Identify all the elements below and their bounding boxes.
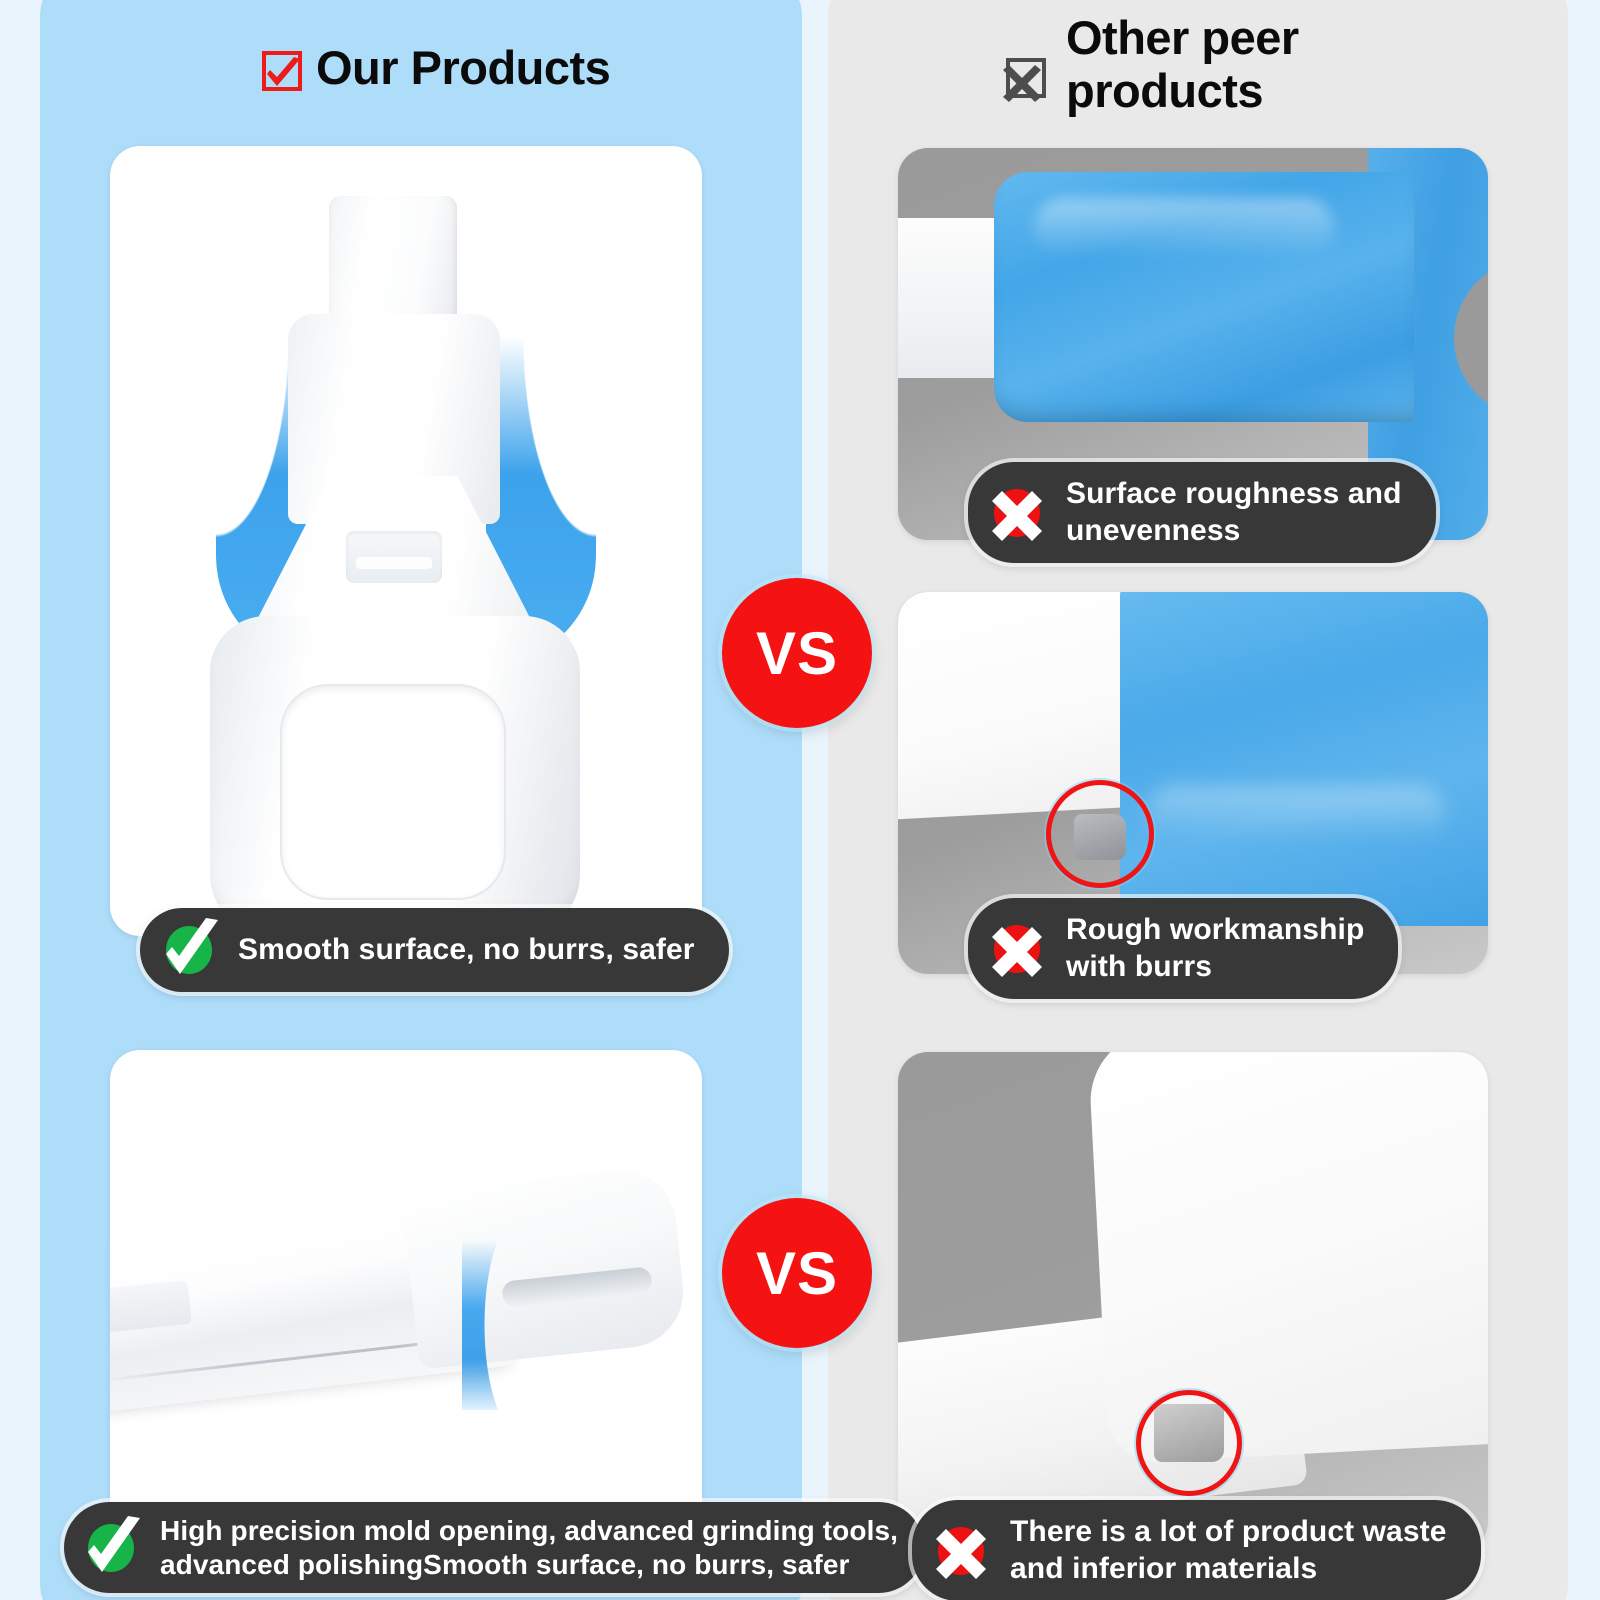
nail-clipper-closeup-illustration [110,1050,702,1550]
caption-text: High precision mold opening, advanced gr… [160,1514,898,1581]
green-check-circle-icon [162,922,218,978]
our-products-title: Our Products [316,42,610,95]
our-product-full-caption: Smooth surface, no burrs, safer [140,908,729,992]
caption-text: There is a lot of product waste and infe… [1010,1514,1447,1587]
peer-burr-closeup-caption: Rough workmanship with burrs [968,898,1398,999]
peer-products-title: Other peer products [1066,12,1299,117]
caption-text: Surface roughness and unevenness [1066,476,1402,549]
blue-handle-body [1120,592,1488,926]
blue-handle-body [994,172,1414,422]
vs-badge-bottom: VS [722,1198,872,1348]
red-circle-annotation [1046,780,1154,888]
green-check-circle-icon [84,1520,140,1576]
peer-white-waste-caption: There is a lot of product waste and infe… [912,1500,1481,1600]
clipper-head [401,1164,688,1369]
checkbox-check-icon [262,51,302,91]
red-x-circle-icon [990,485,1046,541]
our-product-closeup-card [110,1050,702,1550]
red-circle-annotation [1136,1390,1242,1496]
our-product-closeup-caption: High precision mold opening, advanced gr… [64,1502,924,1593]
x-box-icon [1000,58,1048,106]
peer-waste-illustration [898,1052,1488,1552]
clipper-lever [346,531,442,583]
caption-text: Smooth surface, no burrs, safer [238,932,695,969]
peer-products-header: Other peer products [1000,12,1299,117]
our-products-header: Our Products [262,42,610,95]
red-x-circle-icon [934,1523,990,1579]
caption-text: Rough workmanship with burrs [1066,912,1364,985]
nail-clipper-illustration [110,146,702,936]
clipper-opening [282,686,504,898]
red-x-circle-icon [990,921,1046,977]
peer-blue-handle-caption: Surface roughness and unevenness [968,462,1436,563]
comparison-infographic: Our Products Other peer products [0,0,1600,1600]
peer-white-waste-card [898,1052,1488,1552]
clipper-tip [329,196,457,321]
white-upper-body [1087,1052,1488,1464]
our-product-full-card [110,146,702,936]
blue-accent-curve [462,1240,514,1410]
vs-badge-top: VS [722,578,872,728]
